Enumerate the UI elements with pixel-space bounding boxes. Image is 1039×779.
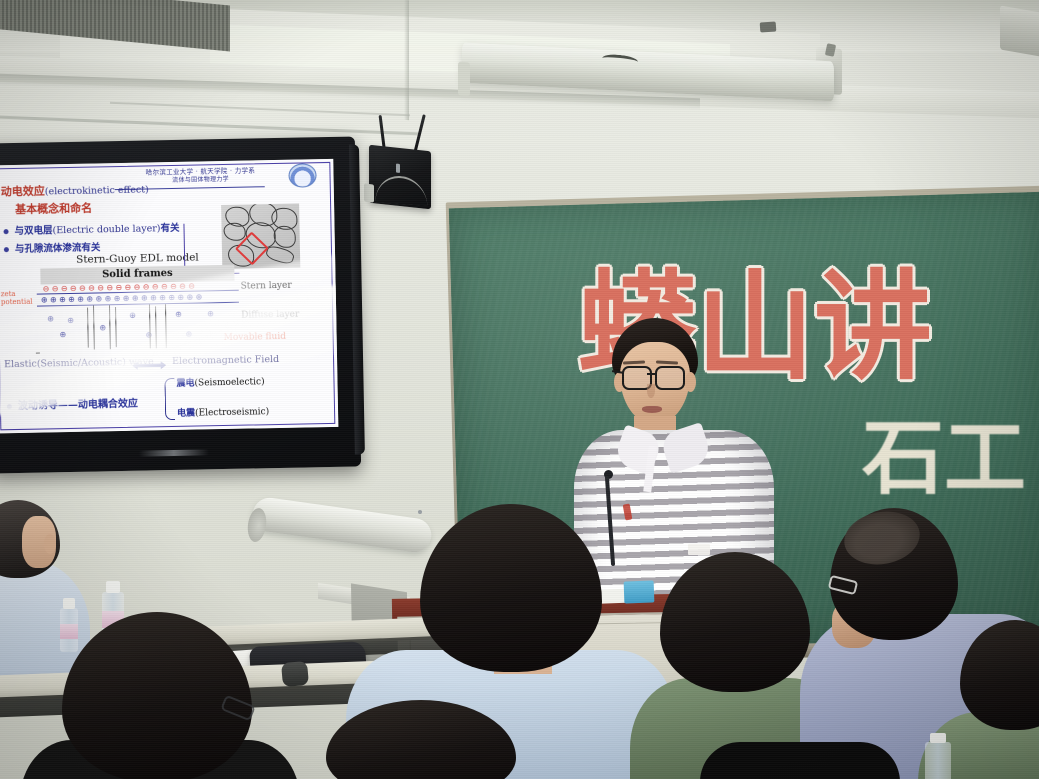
stern-layer-label: Stern layer [241,281,292,292]
screen-case-left-cap [458,62,470,97]
shirt-name-tag [688,544,710,555]
bottle-label [60,624,78,639]
presenter-ear-right [685,372,696,392]
chair-backrest [281,661,309,687]
diffuse-layer-label: Diffuse layer [241,310,299,321]
water-bottle[interactable] [925,742,951,779]
free-ion: ⊕ [99,323,106,332]
free-ion: ⊕ [175,310,182,319]
bottle-body [925,742,951,779]
footer-item-2: 电震(Electroseismic) [177,404,269,419]
grain-shape [274,226,296,248]
movable-fluid-label: Movable fluid [224,332,287,343]
slide-title-en: (electrokinetic effect) [45,184,149,197]
presentation-slide: 哈尔滨工业大学 · 航天学院 · 力学系 流体与固体物理力学 动电效应(elec… [0,159,338,433]
footer-brace-icon [164,378,175,420]
wall-column-edge [404,0,409,120]
wall-mounted-tv[interactable]: 哈尔滨工业大学 · 航天学院 · 力学系 流体与固体物理力学 动电效应(elec… [0,136,361,473]
footer-item-1: 震电(Seismoelectic) [176,374,264,389]
footer-bullet-cn: 波动诱导——动电耦合效应 [18,399,138,412]
board-banner-white: 石工 [862,418,1026,500]
grain-shape [265,244,296,266]
slide-subtitle: 基本概念和命名 [15,200,92,217]
bullet-1-cn-before: 与双电层 [14,225,52,237]
zeta-potential-label: zetapotential [1,290,33,307]
presenter-nose [647,384,655,398]
bullet-1-en: (Electric double layer) [52,223,160,236]
footer-item-2-en: (Electroseismic) [195,407,269,418]
ceiling-fixture-mark [760,21,777,32]
slide-title: 动电效应(electrokinetic effect) [1,180,149,199]
wireless-router[interactable] [369,145,431,210]
audience-8-head [700,742,900,779]
water-bottle[interactable] [60,608,78,652]
bullet-1-cn-after: 有关 [160,223,179,234]
footer-item-2-cn: 电震 [177,409,195,419]
free-ion: ⊕ [185,330,192,339]
tv-screen: 哈尔滨工业大学 · 航天学院 · 力学系 流体与固体物理力学 动电效应(elec… [0,159,338,433]
ceiling-light-right [1000,5,1039,58]
router-led-icon [396,164,400,173]
free-ion: ⊕ [67,316,74,325]
bottle-cap-icon [63,598,75,609]
bullet-dot-icon [4,247,9,252]
glasses-lens-right-icon [655,366,685,390]
edl-model-title: Stern-Guoy EDL model [76,251,199,265]
footer-item-1-en: (Seismoelectic) [194,377,264,388]
classroom-photo: 蟒山讲 石工 [0,0,1039,779]
podium-blue-box[interactable] [624,580,655,603]
free-ion: ⊕ [59,330,66,339]
bottle-cap-icon [106,581,120,593]
bullet-dot-icon [7,404,12,409]
slide-footer-bullet: 波动诱导——动电耦合效应 [7,395,138,413]
glasses-bridge-icon [647,373,657,375]
audience-1-ear [44,534,56,554]
duct-screw-icon [418,510,422,514]
slide-title-cn: 动电效应 [1,184,45,198]
free-ion: ⊕ [47,314,54,323]
equation-right: Electromagnetic Field [172,354,279,367]
router-stripe [375,174,428,206]
router-wall-bracket [364,183,374,202]
presenter-mouth [642,406,662,413]
bottle-cap-icon [930,733,947,743]
tick [36,353,40,354]
bullet-dot-icon [4,229,9,234]
free-ion: ⊕ [129,311,136,320]
free-ion: ⊕ [207,309,214,318]
footer-item-1-cn: 震电 [176,379,194,389]
